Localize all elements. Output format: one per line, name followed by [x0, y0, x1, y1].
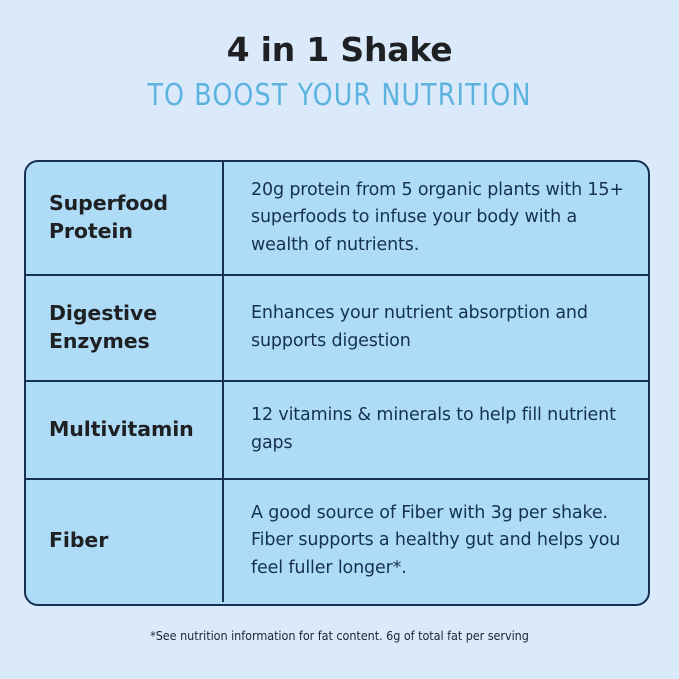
infographic-page: 4 in 1 Shake To Boost Your Nutrition Sup… — [0, 0, 679, 679]
table-cell-label: Digestive Enzymes — [26, 276, 224, 380]
table-cell-description: 20g protein from 5 organic plants with 1… — [224, 162, 648, 274]
benefit-label: Multivitamin — [49, 416, 194, 444]
footnote: *See nutrition information for fat conte… — [0, 628, 679, 643]
table-cell-description: A good source of Fiber with 3g per shake… — [224, 480, 648, 602]
page-subtitle: To Boost Your Nutrition — [20, 79, 658, 112]
benefit-description: 12 vitamins & minerals to help fill nutr… — [251, 402, 630, 457]
benefit-description: A good source of Fiber with 3g per shake… — [251, 500, 630, 583]
table-row: Multivitamin 12 vitamins & minerals to h… — [26, 380, 648, 478]
benefit-label: Superfood Protein — [49, 190, 208, 245]
table-cell-label: Superfood Protein — [26, 162, 224, 274]
table-cell-description: Enhances your nutrient absorption and su… — [224, 276, 648, 380]
benefit-label: Digestive Enzymes — [49, 300, 208, 355]
table-row: Fiber A good source of Fiber with 3g per… — [26, 478, 648, 602]
page-title: 4 in 1 Shake — [0, 32, 679, 69]
table-cell-description: 12 vitamins & minerals to help fill nutr… — [224, 382, 648, 478]
benefit-description: 20g protein from 5 organic plants with 1… — [251, 177, 630, 260]
benefit-label: Fiber — [49, 527, 108, 555]
header: 4 in 1 Shake To Boost Your Nutrition — [0, 32, 679, 112]
table-cell-label: Fiber — [26, 480, 224, 602]
benefit-description: Enhances your nutrient absorption and su… — [251, 300, 630, 355]
table-cell-label: Multivitamin — [26, 382, 224, 478]
benefits-table: Superfood Protein 20g protein from 5 org… — [24, 160, 650, 606]
table-row: Digestive Enzymes Enhances your nutrient… — [26, 274, 648, 380]
table-row: Superfood Protein 20g protein from 5 org… — [26, 162, 648, 274]
